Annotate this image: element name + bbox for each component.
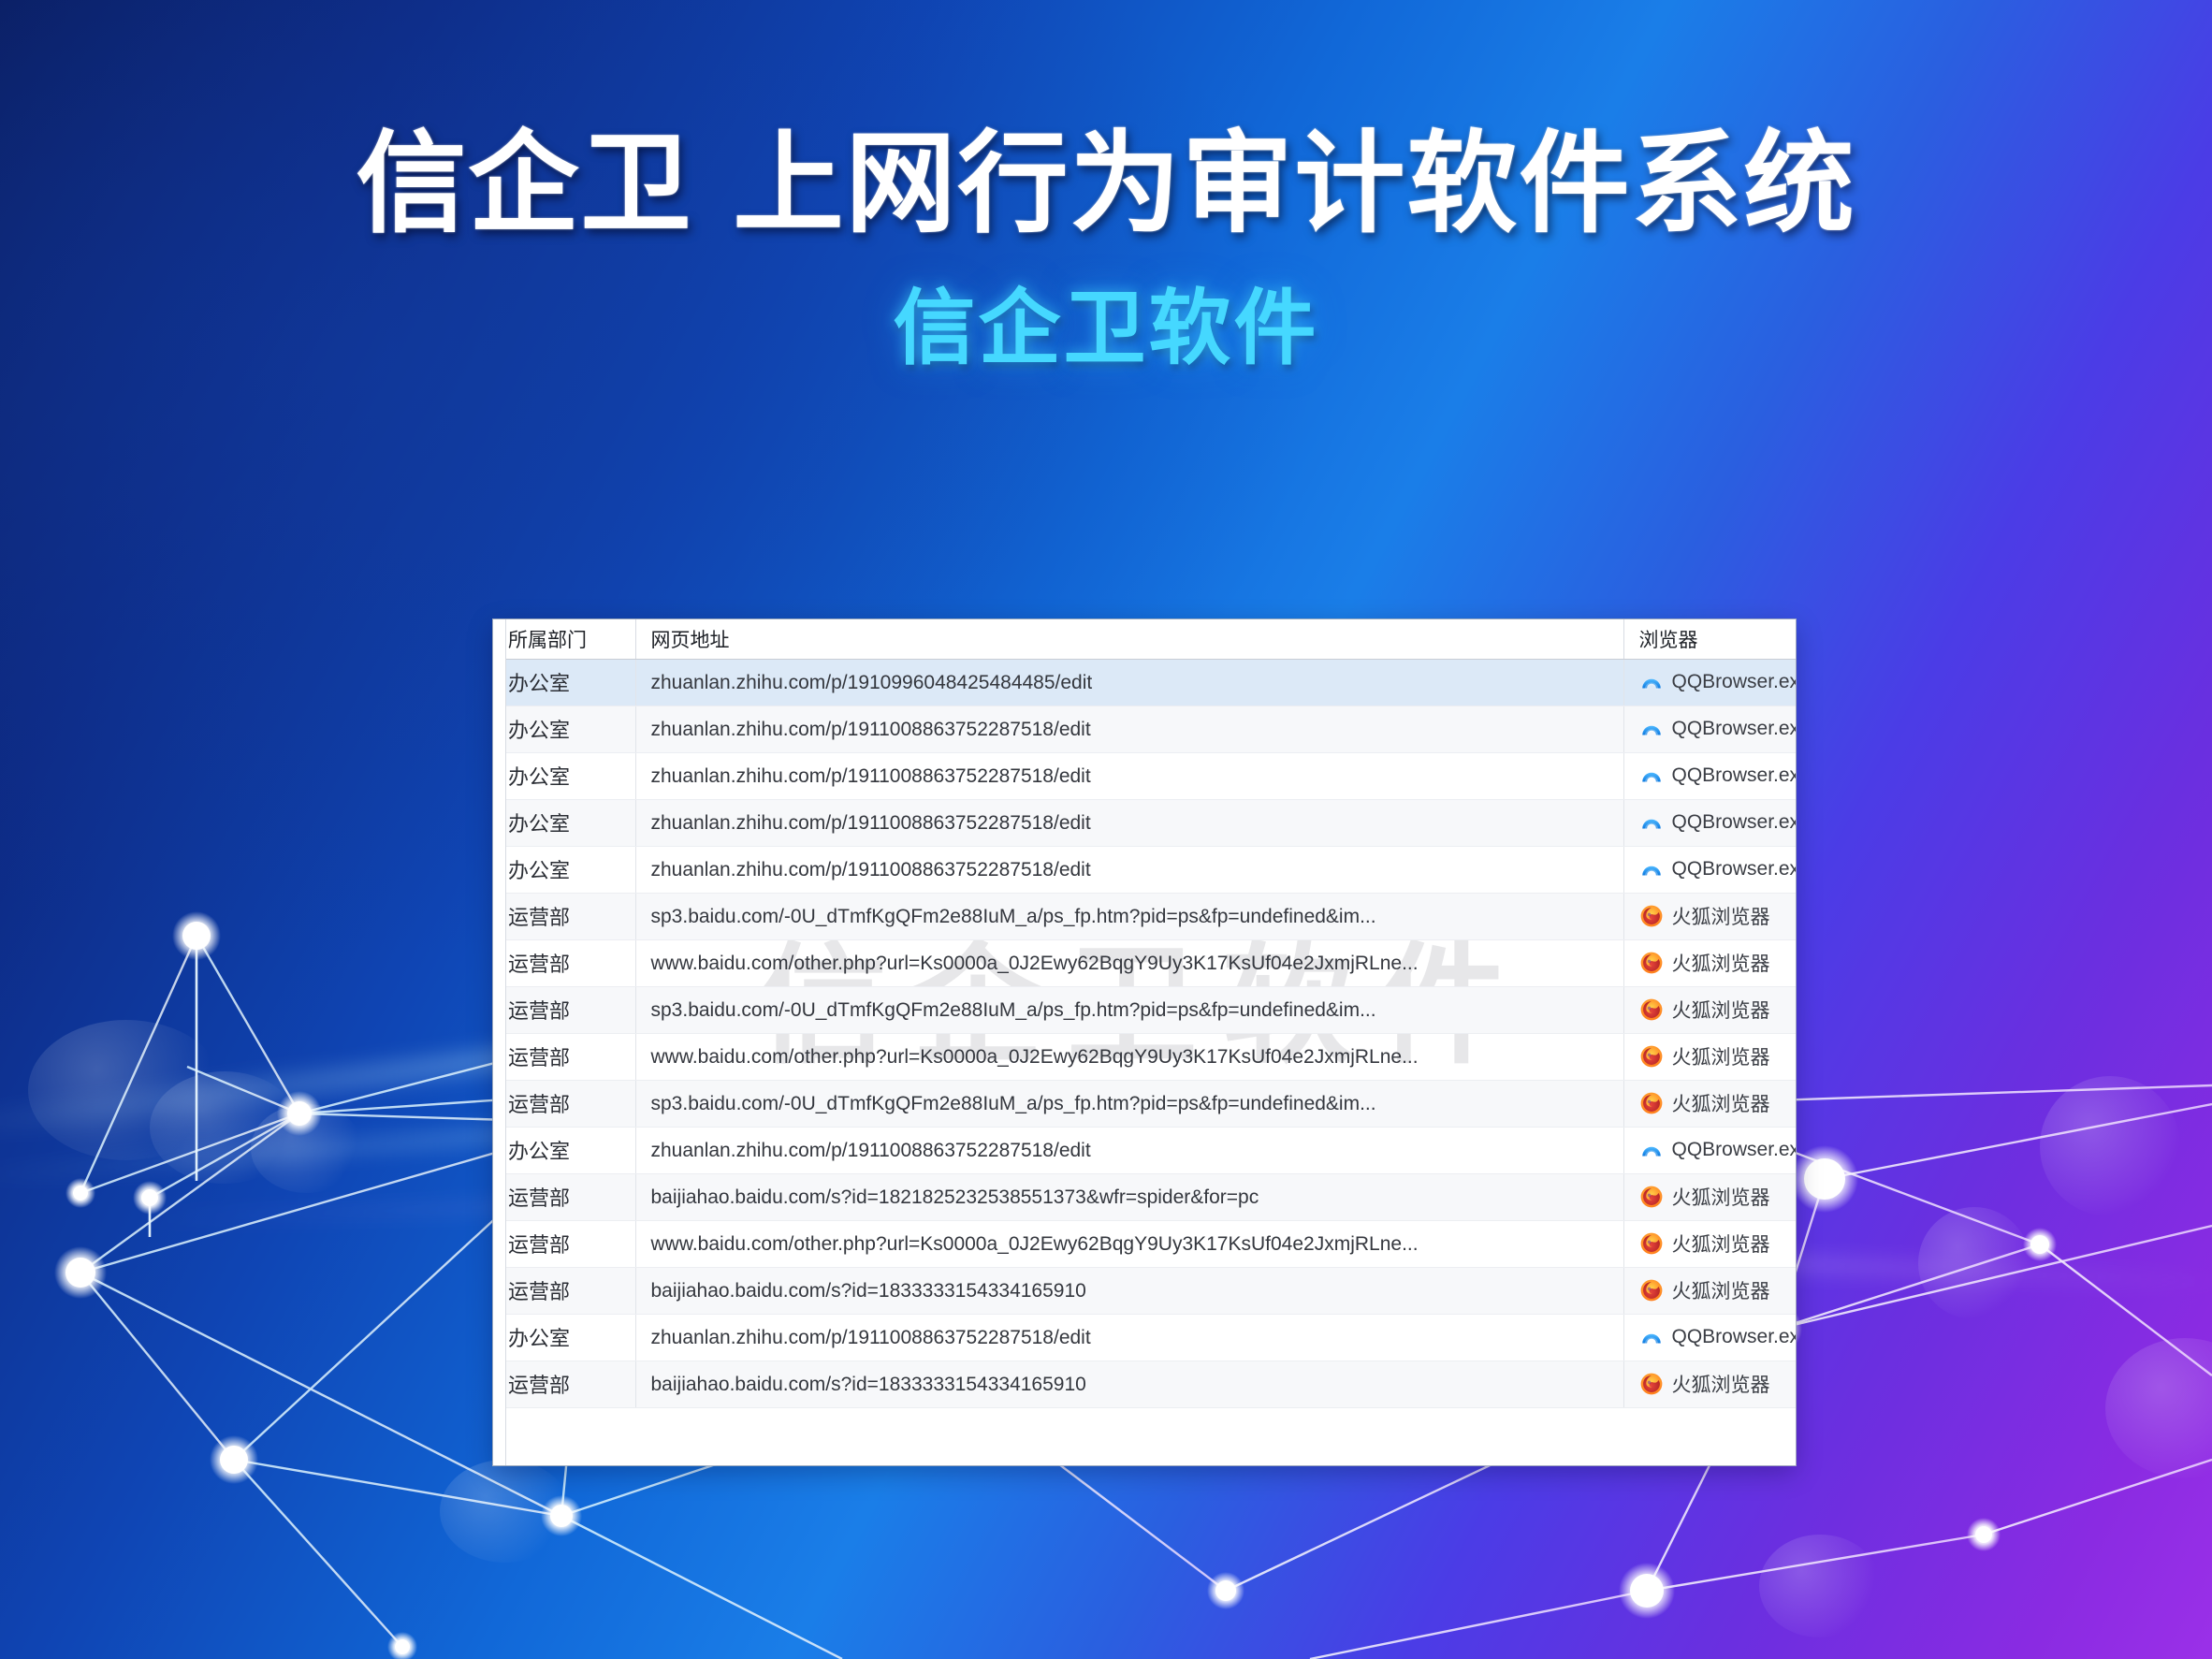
cell-browser: 火狐浏览器 bbox=[1623, 893, 1796, 939]
browser-cell-content: 火狐浏览器 bbox=[1639, 1183, 1782, 1211]
column-header-browser[interactable]: 浏览器 bbox=[1623, 619, 1796, 659]
column-header-url[interactable]: 网页地址 bbox=[635, 619, 1623, 659]
url-label: sp3.baidu.com/-0U_dTmfKgQFm2e88IuM_a/ps_… bbox=[651, 999, 1376, 1021]
cell-department: 运营部 bbox=[493, 986, 635, 1033]
bokeh-orb bbox=[251, 1104, 363, 1193]
browser-cell-content: QQBrowser.exe bbox=[1639, 810, 1782, 835]
row-gutter-strip bbox=[493, 619, 506, 1465]
table-row[interactable]: 运营部baijiahao.baidu.com/s?id=183333315433… bbox=[493, 1361, 1796, 1407]
qqbrowser-icon bbox=[1639, 810, 1664, 835]
url-label: www.baidu.com/other.php?url=Ks0000a_0J2E… bbox=[651, 1233, 1419, 1255]
cell-url: sp3.baidu.com/-0U_dTmfKgQFm2e88IuM_a/ps_… bbox=[635, 1080, 1623, 1127]
cell-url: www.baidu.com/other.php?url=Ks0000a_0J2E… bbox=[635, 1220, 1623, 1267]
url-label: zhuanlan.zhihu.com/p/1911008863752287518… bbox=[651, 859, 1091, 880]
cell-browser: 火狐浏览器 bbox=[1623, 1220, 1796, 1267]
qqbrowser-icon bbox=[1639, 670, 1664, 694]
bokeh-orb bbox=[440, 1460, 571, 1563]
cell-browser: 火狐浏览器 bbox=[1623, 1033, 1796, 1080]
cell-browser: QQBrowser.exe bbox=[1623, 1127, 1796, 1173]
department-label: 运营部 bbox=[508, 1280, 570, 1303]
department-label: 运营部 bbox=[508, 906, 570, 929]
slide-canvas: 信企卫 上网行为审计软件系统 信企卫软件 信企卫软件 所属部门 网页地址 浏览器… bbox=[0, 0, 2212, 1659]
cell-browser: 火狐浏览器 bbox=[1623, 1361, 1796, 1407]
browser-cell-content: 火狐浏览器 bbox=[1639, 902, 1782, 930]
cell-department: 办公室 bbox=[493, 1314, 635, 1361]
browser-cell-content: QQBrowser.exe bbox=[1639, 670, 1782, 694]
cell-browser: 火狐浏览器 bbox=[1623, 1173, 1796, 1220]
page-title: 信企卫 上网行为审计软件系统 bbox=[0, 122, 2212, 245]
browser-label: 火狐浏览器 bbox=[1672, 1230, 1770, 1258]
browser-label: 火狐浏览器 bbox=[1672, 902, 1770, 930]
cell-browser: 火狐浏览器 bbox=[1623, 1267, 1796, 1314]
cell-browser: QQBrowser.exe bbox=[1623, 799, 1796, 846]
table-row[interactable]: 运营部sp3.baidu.com/-0U_dTmfKgQFm2e88IuM_a/… bbox=[493, 986, 1796, 1033]
url-label: baijiahao.baidu.com/s?id=183333315433416… bbox=[651, 1374, 1086, 1395]
cell-url: baijiahao.baidu.com/s?id=182182523253855… bbox=[635, 1173, 1623, 1220]
table-row[interactable]: 办公室zhuanlan.zhihu.com/p/1911008863752287… bbox=[493, 799, 1796, 846]
table-row[interactable]: 运营部www.baidu.com/other.php?url=Ks0000a_0… bbox=[493, 1033, 1796, 1080]
web-access-log-table: 所属部门 网页地址 浏览器 办公室zhuanlan.zhihu.com/p/19… bbox=[493, 619, 1796, 1408]
bokeh-orb bbox=[28, 1020, 225, 1160]
table-row[interactable]: 办公室zhuanlan.zhihu.com/p/1911008863752287… bbox=[493, 706, 1796, 752]
browser-label: 火狐浏览器 bbox=[1672, 1183, 1770, 1211]
department-label: 运营部 bbox=[508, 1093, 570, 1116]
firefox-icon bbox=[1639, 1044, 1664, 1069]
cell-department: 运营部 bbox=[493, 1361, 635, 1407]
url-label: zhuanlan.zhihu.com/p/1911008863752287518… bbox=[651, 812, 1091, 834]
web-access-log-panel: 信企卫软件 所属部门 网页地址 浏览器 办公室zhuanlan.zhihu.co… bbox=[493, 619, 1796, 1465]
browser-label: 火狐浏览器 bbox=[1672, 1042, 1770, 1070]
firefox-icon bbox=[1639, 1231, 1664, 1256]
cell-url: zhuanlan.zhihu.com/p/1911008863752287518… bbox=[635, 752, 1623, 799]
url-label: zhuanlan.zhihu.com/p/1911008863752287518… bbox=[651, 1327, 1091, 1348]
department-label: 办公室 bbox=[508, 765, 570, 789]
browser-cell-content: 火狐浏览器 bbox=[1639, 949, 1782, 977]
table-row[interactable]: 运营部www.baidu.com/other.php?url=Ks0000a_0… bbox=[493, 939, 1796, 986]
department-label: 运营部 bbox=[508, 999, 570, 1023]
hero-title-block: 信企卫 上网行为审计软件系统 信企卫软件 bbox=[0, 122, 2212, 381]
cell-department: 办公室 bbox=[493, 659, 635, 706]
cell-department: 运营部 bbox=[493, 939, 635, 986]
firefox-icon bbox=[1639, 1185, 1664, 1209]
department-label: 办公室 bbox=[508, 1140, 570, 1163]
table-row[interactable]: 办公室zhuanlan.zhihu.com/p/1911008863752287… bbox=[493, 1314, 1796, 1361]
browser-label: 火狐浏览器 bbox=[1672, 1276, 1770, 1304]
table-row[interactable]: 运营部baijiahao.baidu.com/s?id=182182523253… bbox=[493, 1173, 1796, 1220]
url-label: baijiahao.baidu.com/s?id=182182523253855… bbox=[651, 1186, 1259, 1208]
cell-department: 运营部 bbox=[493, 1173, 635, 1220]
qqbrowser-icon bbox=[1639, 764, 1664, 788]
browser-cell-content: QQBrowser.exe bbox=[1639, 717, 1782, 741]
cell-department: 运营部 bbox=[493, 1033, 635, 1080]
bokeh-orb bbox=[2105, 1338, 2212, 1478]
cell-url: sp3.baidu.com/-0U_dTmfKgQFm2e88IuM_a/ps_… bbox=[635, 893, 1623, 939]
url-label: zhuanlan.zhihu.com/p/1911008863752287518… bbox=[651, 719, 1091, 740]
browser-cell-content: 火狐浏览器 bbox=[1639, 1042, 1782, 1070]
page-subtitle: 信企卫软件 bbox=[0, 262, 2212, 381]
browser-label: QQBrowser.exe bbox=[1672, 671, 1797, 693]
table-row[interactable]: 运营部www.baidu.com/other.php?url=Ks0000a_0… bbox=[493, 1220, 1796, 1267]
bokeh-orb bbox=[2040, 1076, 2180, 1216]
qqbrowser-icon bbox=[1639, 1138, 1664, 1162]
cell-browser: 火狐浏览器 bbox=[1623, 1080, 1796, 1127]
cell-browser: QQBrowser.exe bbox=[1623, 846, 1796, 893]
browser-cell-content: 火狐浏览器 bbox=[1639, 1370, 1782, 1398]
url-label: baijiahao.baidu.com/s?id=183333315433416… bbox=[651, 1280, 1086, 1302]
table-row[interactable]: 运营部sp3.baidu.com/-0U_dTmfKgQFm2e88IuM_a/… bbox=[493, 893, 1796, 939]
cell-department: 办公室 bbox=[493, 846, 635, 893]
qqbrowser-icon bbox=[1639, 1325, 1664, 1349]
browser-label: 火狐浏览器 bbox=[1672, 1089, 1770, 1117]
table-header: 所属部门 网页地址 浏览器 bbox=[493, 619, 1796, 659]
bokeh-orb bbox=[150, 1071, 299, 1184]
cell-url: zhuanlan.zhihu.com/p/1911008863752287518… bbox=[635, 846, 1623, 893]
cell-browser: 火狐浏览器 bbox=[1623, 939, 1796, 986]
cell-department: 办公室 bbox=[493, 1127, 635, 1173]
firefox-icon bbox=[1639, 997, 1664, 1022]
url-label: sp3.baidu.com/-0U_dTmfKgQFm2e88IuM_a/ps_… bbox=[651, 1093, 1376, 1114]
url-label: sp3.baidu.com/-0U_dTmfKgQFm2e88IuM_a/ps_… bbox=[651, 906, 1376, 927]
table-header-row: 所属部门 网页地址 浏览器 bbox=[493, 619, 1796, 659]
table-row[interactable]: 办公室zhuanlan.zhihu.com/p/1911008863752287… bbox=[493, 752, 1796, 799]
cell-url: baijiahao.baidu.com/s?id=183333315433416… bbox=[635, 1361, 1623, 1407]
cell-browser: QQBrowser.exe bbox=[1623, 659, 1796, 706]
cell-url: zhuanlan.zhihu.com/p/1911008863752287518… bbox=[635, 706, 1623, 752]
browser-cell-content: 火狐浏览器 bbox=[1639, 1089, 1782, 1117]
browser-label: 火狐浏览器 bbox=[1672, 949, 1770, 977]
browser-cell-content: QQBrowser.exe bbox=[1639, 1138, 1782, 1162]
cell-department: 办公室 bbox=[493, 706, 635, 752]
cell-url: www.baidu.com/other.php?url=Ks0000a_0J2E… bbox=[635, 1033, 1623, 1080]
department-label: 运营部 bbox=[508, 1374, 570, 1397]
cell-url: zhuanlan.zhihu.com/p/1910996048425484485… bbox=[635, 659, 1623, 706]
browser-label: QQBrowser.exe bbox=[1672, 811, 1797, 834]
cell-department: 运营部 bbox=[493, 1267, 635, 1314]
cell-url: zhuanlan.zhihu.com/p/1911008863752287518… bbox=[635, 1314, 1623, 1361]
url-label: zhuanlan.zhihu.com/p/1910996048425484485… bbox=[651, 672, 1093, 693]
qqbrowser-icon bbox=[1639, 857, 1664, 881]
firefox-icon bbox=[1639, 951, 1664, 975]
department-label: 办公室 bbox=[508, 812, 570, 836]
cell-url: www.baidu.com/other.php?url=Ks0000a_0J2E… bbox=[635, 939, 1623, 986]
cell-url: zhuanlan.zhihu.com/p/1911008863752287518… bbox=[635, 1127, 1623, 1173]
department-label: 运营部 bbox=[508, 1233, 570, 1257]
bokeh-orb bbox=[1759, 1535, 1881, 1637]
bokeh-orb bbox=[1918, 1207, 2030, 1319]
table-row[interactable]: 运营部sp3.baidu.com/-0U_dTmfKgQFm2e88IuM_a/… bbox=[493, 1080, 1796, 1127]
department-label: 运营部 bbox=[508, 1046, 570, 1070]
firefox-icon bbox=[1639, 904, 1664, 928]
browser-cell-content: 火狐浏览器 bbox=[1639, 1230, 1782, 1258]
browser-cell-content: QQBrowser.exe bbox=[1639, 857, 1782, 881]
firefox-icon bbox=[1639, 1091, 1664, 1115]
url-label: zhuanlan.zhihu.com/p/1911008863752287518… bbox=[651, 1140, 1091, 1161]
browser-label: QQBrowser.exe bbox=[1672, 1139, 1797, 1161]
browser-cell-content: 火狐浏览器 bbox=[1639, 1276, 1782, 1304]
table-row[interactable]: 办公室zhuanlan.zhihu.com/p/1911008863752287… bbox=[493, 846, 1796, 893]
cell-url: baijiahao.baidu.com/s?id=183333315433416… bbox=[635, 1267, 1623, 1314]
column-header-department[interactable]: 所属部门 bbox=[493, 619, 635, 659]
department-label: 办公室 bbox=[508, 859, 570, 882]
qqbrowser-icon bbox=[1639, 717, 1664, 741]
url-label: zhuanlan.zhihu.com/p/1911008863752287518… bbox=[651, 765, 1091, 787]
url-label: www.baidu.com/other.php?url=Ks0000a_0J2E… bbox=[651, 953, 1419, 974]
cell-department: 办公室 bbox=[493, 799, 635, 846]
browser-label: QQBrowser.exe bbox=[1672, 1326, 1797, 1348]
cell-department: 办公室 bbox=[493, 752, 635, 799]
cell-department: 运营部 bbox=[493, 1080, 635, 1127]
department-label: 办公室 bbox=[508, 719, 570, 742]
browser-cell-content: 火狐浏览器 bbox=[1639, 996, 1782, 1024]
browser-label: QQBrowser.exe bbox=[1672, 718, 1797, 740]
browser-cell-content: QQBrowser.exe bbox=[1639, 764, 1782, 788]
browser-label: QQBrowser.exe bbox=[1672, 764, 1797, 787]
cell-browser: 火狐浏览器 bbox=[1623, 986, 1796, 1033]
table-row[interactable]: 运营部baijiahao.baidu.com/s?id=183333315433… bbox=[493, 1267, 1796, 1314]
department-label: 运营部 bbox=[508, 1186, 570, 1210]
cell-browser: QQBrowser.exe bbox=[1623, 1314, 1796, 1361]
table-body: 办公室zhuanlan.zhihu.com/p/1910996048425484… bbox=[493, 659, 1796, 1407]
browser-label: 火狐浏览器 bbox=[1672, 996, 1770, 1024]
firefox-icon bbox=[1639, 1278, 1664, 1302]
department-label: 办公室 bbox=[508, 1327, 570, 1350]
cell-browser: QQBrowser.exe bbox=[1623, 752, 1796, 799]
department-label: 办公室 bbox=[508, 672, 570, 695]
department-label: 运营部 bbox=[508, 953, 570, 976]
table-row[interactable]: 办公室zhuanlan.zhihu.com/p/1911008863752287… bbox=[493, 1127, 1796, 1173]
cell-department: 运营部 bbox=[493, 1220, 635, 1267]
cell-browser: QQBrowser.exe bbox=[1623, 706, 1796, 752]
cell-department: 运营部 bbox=[493, 893, 635, 939]
browser-cell-content: QQBrowser.exe bbox=[1639, 1325, 1782, 1349]
browser-label: QQBrowser.exe bbox=[1672, 858, 1797, 880]
cell-url: zhuanlan.zhihu.com/p/1911008863752287518… bbox=[635, 799, 1623, 846]
table-row[interactable]: 办公室zhuanlan.zhihu.com/p/1910996048425484… bbox=[493, 659, 1796, 706]
browser-label: 火狐浏览器 bbox=[1672, 1370, 1770, 1398]
firefox-icon bbox=[1639, 1372, 1664, 1396]
url-label: www.baidu.com/other.php?url=Ks0000a_0J2E… bbox=[651, 1046, 1419, 1068]
cell-url: sp3.baidu.com/-0U_dTmfKgQFm2e88IuM_a/ps_… bbox=[635, 986, 1623, 1033]
